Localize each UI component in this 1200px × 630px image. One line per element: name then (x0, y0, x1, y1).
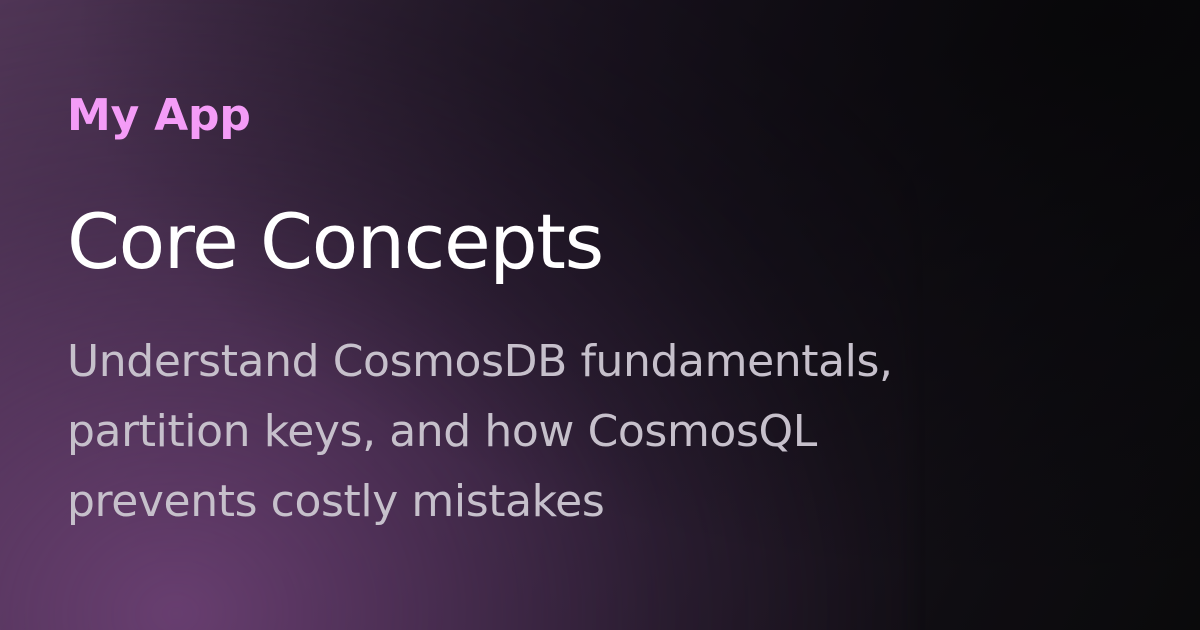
page-title: Core Concepts (67, 202, 1077, 281)
page-description: Understand CosmosDB fundamentals, partit… (67, 327, 1017, 538)
app-name-eyebrow: My App (67, 92, 1077, 140)
card-content: My App Core Concepts Understand CosmosDB… (67, 0, 1077, 630)
open-graph-card: My App Core Concepts Understand CosmosDB… (0, 0, 1200, 630)
